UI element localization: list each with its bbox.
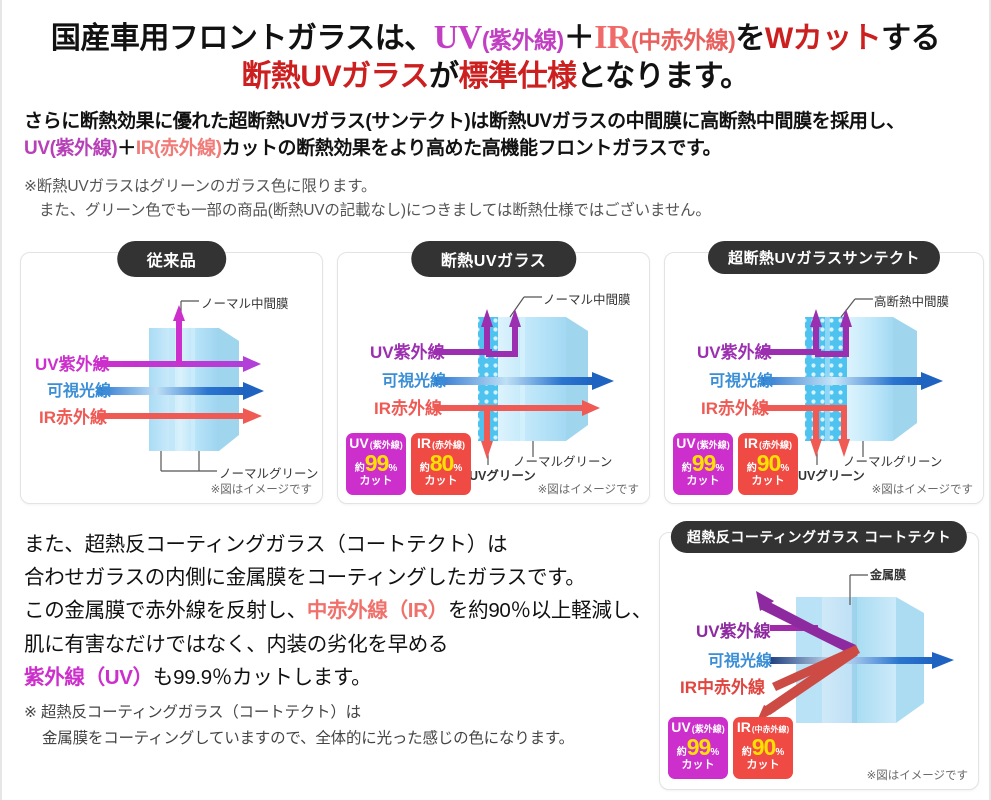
badge-uv: UV(紫外線) 約99% カット — [673, 433, 733, 495]
badge-ir: IR(赤外線) 約90% カット — [738, 433, 798, 495]
lower-note-line-2: 金属膜をコーティングしていますので、全体的に光った感じの色になります。 — [24, 726, 644, 752]
lower-note-line-1: ※ 超熱反コーティングガラス（コートテクト）は — [24, 704, 361, 721]
image-note-suntect: ※図はイメージです — [872, 481, 973, 497]
title-seg-ir: IR — [594, 19, 631, 56]
badge-ir-yaku: 約 — [742, 748, 752, 758]
lead-paragraph: さらに断熱効果に優れた超断熱UVガラス(サンテクト)は断熱UVガラスの中間膜に高… — [2, 102, 989, 163]
title-seg-wcut: Wカット — [765, 22, 881, 55]
ray-label-uv: UV紫外線 — [697, 342, 772, 362]
badge-uv-head: UV — [349, 436, 368, 450]
lower-line-1: また、超熱反コーティングガラス（コートテクト）は — [24, 528, 644, 561]
ray-label-uv: UV紫外線 — [696, 621, 771, 641]
badge-ir-num: 90 — [752, 736, 776, 759]
title-seg-uv: UV — [434, 19, 482, 56]
badge-uv-cut: カット — [360, 476, 393, 487]
title-seg-plus: ＋ — [564, 20, 595, 55]
lower-description: また、超熱反コーティングガラス（コートテクト）は 合わせガラスの内側に金属膜をコ… — [24, 528, 644, 694]
lower-line-3c: を約90％以上軽減し、 — [448, 599, 652, 622]
badge-ir-num: 90 — [757, 452, 781, 475]
badge-uv-yaku: 約 — [677, 748, 687, 758]
badge-uv-sub: (紫外線) — [370, 441, 403, 450]
title-line-1: 国産車用フロントガラスは、UV(紫外線)＋IR(中赤外線)をWカットする — [2, 18, 989, 57]
badge-uv: UV(紫外線) 約99% カット — [346, 433, 406, 495]
image-note-conventional: ※図はイメージです — [211, 481, 312, 497]
ray-label-visible: 可視光線 — [382, 371, 446, 390]
lead-ir-label: IR(赤外線) — [136, 138, 222, 159]
lower-line-5b: も99.9％カットします。 — [153, 666, 371, 689]
ray-label-uv: UV紫外線 — [35, 354, 110, 374]
badge-ir-pct: % — [775, 748, 784, 758]
badge-ir-sub: (赤外線) — [432, 441, 465, 450]
badge-ir-yaku: 約 — [747, 464, 757, 474]
lower-line-3: この金属膜で赤外線を反射し、中赤外線（IR）を約90％以上軽減し、 — [24, 594, 644, 627]
badge-uv-cut: カット — [682, 760, 715, 771]
ray-label-visible: 可視光線 — [709, 371, 773, 390]
badge-uv-head: UV — [671, 720, 690, 734]
ray-label-ir: IR赤外線 — [374, 398, 442, 418]
ray-label-uv: UV紫外線 — [370, 342, 445, 362]
badge-ir-yaku: 約 — [420, 464, 430, 474]
ray-label-ir: IR赤外線 — [39, 407, 107, 427]
page-title: 国産車用フロントガラスは、UV(紫外線)＋IR(中赤外線)をWカットする 断熱U… — [2, 0, 989, 102]
callout-bottom-conventional: ノーマルグリーン — [219, 463, 318, 482]
lead-plus: ＋ — [117, 138, 136, 159]
badge-ir-sub: (中赤外線) — [752, 726, 789, 734]
lead-line-1: さらに断熱効果に優れた超断熱UVガラス(サンテクト)は断熱UVガラスの中間膜に高… — [24, 108, 971, 136]
lower-uv-highlight: 紫外線（UV） — [24, 666, 153, 689]
ray-label-visible: 可視光線 — [47, 381, 111, 400]
card-insulated-uv: 断熱UVガラス — [337, 252, 650, 504]
diagram-card-row: 従来品 — [20, 252, 984, 504]
callout-top-suntect: 高断熱中間膜 — [874, 291, 949, 310]
title-seg-suru: する — [881, 22, 940, 55]
badge-ir-num: 80 — [430, 452, 454, 475]
badge-ir-cut: カット — [752, 476, 785, 487]
badge-ir-cut: カット — [747, 760, 780, 771]
badge-uv-pct: % — [715, 464, 724, 474]
callout-metal-film: 金属膜 — [870, 566, 906, 583]
note-line-1: ※断熱UVガラスはグリーンのガラス色に限ります。 — [24, 178, 376, 195]
badge-ir-head: IR — [417, 436, 431, 450]
title-line-2: 断熱UVガラスが標準仕様となります。 — [2, 57, 989, 98]
title-seg-wo: を — [735, 22, 765, 55]
title-seg-uv-sub: (紫外線) — [482, 27, 564, 53]
badge-ir: IR(中赤外線) 約90% カット — [733, 717, 793, 779]
title2-seg-tail: となります。 — [576, 60, 749, 93]
lower-ir-highlight: 中赤外線（IR） — [307, 599, 448, 622]
callout-top-insulated-uv: ノーマル中間膜 — [543, 289, 631, 308]
badge-uv-num: 99 — [365, 452, 389, 475]
badge-group-suntect: UV(紫外線) 約99% カット IR(赤外線) 約90% カット — [673, 433, 798, 495]
callout-top-conventional: ノーマル中間膜 — [201, 293, 289, 312]
badge-uv-num: 99 — [687, 736, 711, 759]
lead-uv-label: UV(紫外線) — [24, 138, 117, 159]
card-suntect: 超断熱UVガラスサンテクト — [664, 252, 984, 504]
infographic-page: 国産車用フロントガラスは、UV(紫外線)＋IR(中赤外線)をWカットする 断熱U… — [0, 0, 991, 800]
badge-group-coat-tect: UV(紫外線) 約99% カット IR(中赤外線) 約90% カット — [668, 717, 793, 779]
badge-uv-yaku: 約 — [682, 464, 692, 474]
badge-ir-pct: % — [453, 464, 462, 474]
badge-uv-num: 99 — [692, 452, 716, 475]
lower-disclaimer: ※ 超熱反コーティングガラス（コートテクト）は 金属膜をコーティングしていますの… — [24, 700, 644, 753]
lower-line-4: 肌に有害なだけではなく、内装の劣化を早める — [24, 628, 644, 661]
lead-tail: カットの断熱効果をより高めた高機能フロントガラスです。 — [222, 138, 722, 159]
badge-uv-sub: (紫外線) — [697, 441, 730, 450]
badge-uv-pct: % — [710, 748, 719, 758]
badge-uv-pct: % — [388, 464, 397, 474]
badge-uv-sub: (紫外線) — [692, 725, 725, 734]
title2-seg-glass: 断熱UVガラス — [241, 60, 429, 93]
badge-ir-cut: カット — [425, 476, 458, 487]
title-seg-ir-sub: (中赤外線) — [631, 27, 735, 53]
note-line-2: また、グリーン色でも一部の商品(断熱UVの記載なし)につきましては断熱仕様ではご… — [24, 199, 971, 224]
title2-seg-ga: が — [429, 60, 459, 93]
badge-ir-head: IR — [744, 436, 758, 450]
badge-ir-pct: % — [780, 464, 789, 474]
badge-uv-yaku: 約 — [355, 464, 365, 474]
title2-seg-standard: 標準仕様 — [458, 60, 576, 93]
lower-line-2: 合わせガラスの内側に金属膜をコーティングしたガラスです。 — [24, 561, 644, 594]
card-coat-tect: 超熱反コーティングガラス コートテクト — [659, 532, 979, 790]
lower-line-3a: この金属膜で赤外線を反射し、 — [24, 599, 307, 622]
image-note-coat-tect: ※図はイメージです — [867, 767, 968, 783]
lower-line-5: 紫外線（UV）も99.9％カットします。 — [24, 661, 644, 694]
badge-uv-head: UV — [676, 436, 695, 450]
ray-uv — [97, 305, 261, 372]
badge-ir-sub: (赤外線) — [759, 441, 792, 450]
lead-line-2: UV(紫外線)＋IR(赤外線)カットの断熱効果をより高めた高機能フロントガラスで… — [24, 135, 971, 163]
image-note-insulated-uv: ※図はイメージです — [538, 481, 639, 497]
disclaimer-note: ※断熱UVガラスはグリーンのガラス色に限ります。 また、グリーン色でも一部の商品… — [2, 163, 989, 225]
card-conventional: 従来品 — [20, 252, 323, 504]
badge-uv: UV(紫外線) 約99% カット — [668, 717, 728, 779]
ray-label-ir: IR赤外線 — [701, 398, 769, 418]
badge-uv-cut: カット — [687, 476, 720, 487]
badge-ir-head: IR — [737, 720, 751, 734]
ray-label-visible: 可視光線 — [708, 651, 772, 670]
ray-label-ir: IR中赤外線 — [680, 677, 765, 697]
badge-ir: IR(赤外線) 約80% カット — [411, 433, 471, 495]
title-seg-1: 国産車用フロントガラスは、 — [51, 22, 434, 55]
badge-group-insulated-uv: UV(紫外線) 約99% カット IR(赤外線) 約80% カット — [346, 433, 471, 495]
